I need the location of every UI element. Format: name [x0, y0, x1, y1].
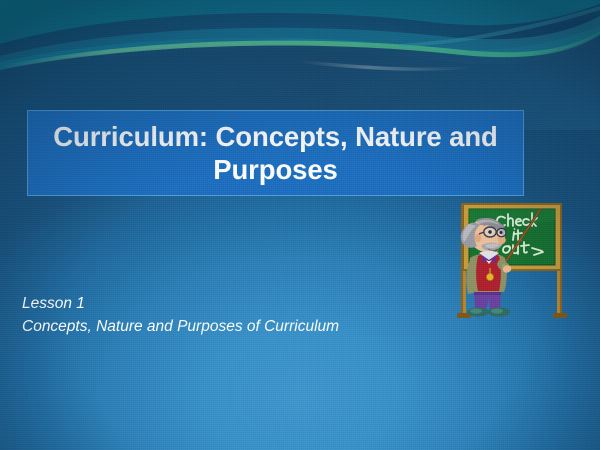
subtitle-line-lesson: Lesson 1: [22, 293, 442, 316]
slide-canvas: Curriculum: Concepts, Nature and Purpose…: [0, 0, 600, 450]
teacher-figure: [461, 218, 513, 317]
teacher-at-chalkboard-icon: [452, 198, 578, 322]
subtitle-line-topic: Concepts, Nature and Purposes of Curricu…: [22, 316, 442, 339]
subtitle-textbox[interactable]: Lesson 1 Concepts, Nature and Purposes o…: [22, 293, 442, 339]
title-textbox[interactable]: Curriculum: Concepts, Nature and Purpose…: [27, 110, 524, 196]
page-title: Curriculum: Concepts, Nature and Purpose…: [28, 120, 523, 186]
